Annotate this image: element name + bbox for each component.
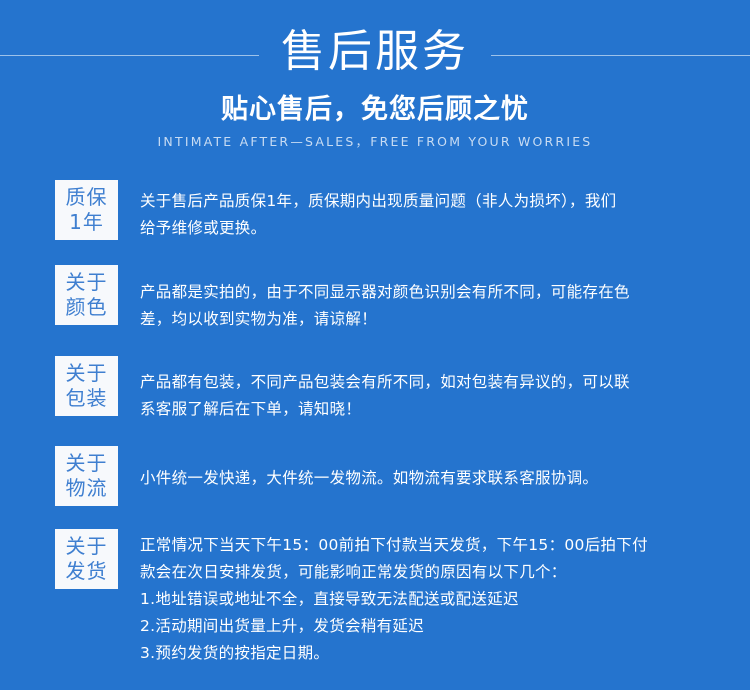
row-text-line: 1.地址错误或地址不全，直接导致无法配送或配送延迟 bbox=[140, 586, 732, 613]
badge-label-line2: 发货 bbox=[66, 559, 108, 584]
badge-label-line1: 关于 bbox=[66, 361, 108, 386]
badge-label-line1: 关于 bbox=[66, 534, 108, 559]
badge-label-line1: 质保 bbox=[66, 185, 108, 210]
row-text-line: 差，均以收到实物为准，请谅解！ bbox=[140, 306, 732, 333]
row-text-logistics: 小件统一发快递，大件统一发物流。如物流有要求联系客服协调。 bbox=[118, 446, 750, 492]
badge-warranty: 质保 1年 bbox=[55, 180, 118, 240]
list-item: 关于 物流 小件统一发快递，大件统一发物流。如物流有要求联系客服协调。 bbox=[0, 446, 750, 506]
page-title-container: 售后服务 bbox=[0, 21, 750, 83]
list-item: 关于 包装 产品都有包装，不同产品包装会有所不同，如对包装有异议的，可以联 系客… bbox=[0, 356, 750, 423]
badge-packaging: 关于 包装 bbox=[55, 356, 118, 416]
list-item: 质保 1年 关于售后产品质保1年，质保期内出现质量问题（非人为损坏），我们 给予… bbox=[0, 180, 750, 242]
page-subtitle: 贴心售后，免您后顾之忧 bbox=[0, 92, 750, 128]
badge-label-line2: 物流 bbox=[66, 476, 108, 501]
badge-shipping: 关于 发货 bbox=[55, 529, 118, 589]
service-list: 质保 1年 关于售后产品质保1年，质保期内出现质量问题（非人为损坏），我们 给予… bbox=[0, 180, 750, 690]
page-header: 售后服务 贴心售后，免您后顾之忧 INTIMATE AFTER—SALES，FR… bbox=[0, 0, 750, 165]
badge-label-line1: 关于 bbox=[66, 270, 108, 295]
badge-label-line2: 1年 bbox=[69, 210, 104, 235]
row-text-line: 关于售后产品质保1年，质保期内出现质量问题（非人为损坏），我们 bbox=[140, 188, 732, 215]
row-text-line: 2.活动期间出货量上升，发货会稍有延迟 bbox=[140, 613, 732, 640]
row-text-shipping: 正常情况下当天下午15：00前拍下付款当天发货，下午15：00后拍下付 款会在次… bbox=[118, 529, 750, 667]
row-text-line: 产品都是实拍的，由于不同显示器对颜色识别会有所不同，可能存在色 bbox=[140, 279, 732, 306]
page-subtitle-english: INTIMATE AFTER—SALES，FREE FROM YOUR WORR… bbox=[0, 134, 750, 150]
badge-label-line2: 包装 bbox=[66, 386, 108, 411]
badge-color: 关于 颜色 bbox=[55, 265, 118, 325]
row-text-warranty: 关于售后产品质保1年，质保期内出现质量问题（非人为损坏），我们 给予维修或更换。 bbox=[118, 180, 750, 242]
row-text-line: 3.预约发货的按指定日期。 bbox=[140, 640, 732, 667]
list-item: 关于 发货 正常情况下当天下午15：00前拍下付款当天发货，下午15：00后拍下… bbox=[0, 529, 750, 667]
row-text-line: 正常情况下当天下午15：00前拍下付款当天发货，下午15：00后拍下付 bbox=[140, 532, 732, 559]
page-title: 售后服务 bbox=[259, 21, 491, 83]
row-text-packaging: 产品都有包装，不同产品包装会有所不同，如对包装有异议的，可以联 系客服了解后在下… bbox=[118, 356, 750, 423]
badge-logistics: 关于 物流 bbox=[55, 446, 118, 506]
badge-label-line2: 颜色 bbox=[66, 295, 108, 320]
badge-label-line1: 关于 bbox=[66, 451, 108, 476]
row-text-line: 款会在次日安排发货，可能影响正常发货的原因有以下几个： bbox=[140, 559, 732, 586]
row-text-line: 小件统一发快递，大件统一发物流。如物流有要求联系客服协调。 bbox=[140, 465, 732, 492]
row-text-line: 给予维修或更换。 bbox=[140, 215, 732, 242]
list-item: 关于 颜色 产品都是实拍的，由于不同显示器对颜色识别会有所不同，可能存在色 差，… bbox=[0, 265, 750, 333]
row-text-line: 产品都有包装，不同产品包装会有所不同，如对包装有异议的，可以联 bbox=[140, 369, 732, 396]
row-text-color: 产品都是实拍的，由于不同显示器对颜色识别会有所不同，可能存在色 差，均以收到实物… bbox=[118, 265, 750, 333]
row-text-line: 系客服了解后在下单，请知晓！ bbox=[140, 396, 732, 423]
